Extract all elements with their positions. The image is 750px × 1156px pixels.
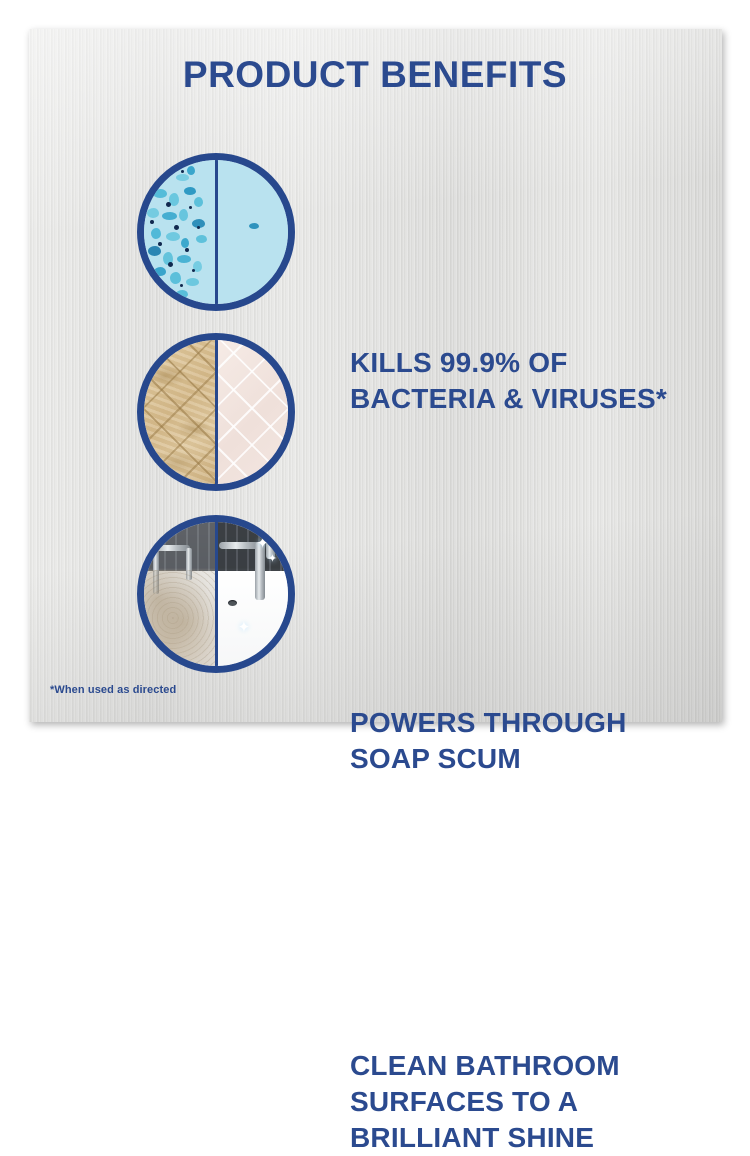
before-after-divider (215, 160, 218, 304)
dull-dirty-sink (144, 522, 216, 666)
clean-tile (216, 340, 288, 484)
benefit-line: POWERS THROUGH (350, 705, 627, 741)
benefit-text-2: POWERS THROUGH SOAP SCUM (350, 705, 627, 777)
benefit-line: SURFACES TO A (350, 1084, 620, 1120)
clean-disinfected-surface (216, 160, 288, 304)
benefit-line: CLEAN BATHROOM (350, 1048, 620, 1084)
benefit-row-3: ✦ ✦ ✦ CLEAN BATHROOM SURFACES TO A BRILL… (0, 515, 750, 675)
tile-soap-scum-before-after-circle (137, 333, 295, 491)
benefit-row-2: POWERS THROUGH SOAP SCUM (0, 333, 750, 493)
before-after-divider (215, 522, 218, 666)
benefit-line: BRILLIANT SHINE (350, 1120, 620, 1156)
footnote-disclaimer: *When used as directed (50, 684, 176, 696)
page-title: PRODUCT BENEFITS (0, 56, 750, 93)
benefit-line: SOAP SCUM (350, 741, 627, 777)
benefit-text-3: CLEAN BATHROOM SURFACES TO A BRILLIANT S… (350, 1048, 620, 1156)
dirty-surface-with-bacteria (144, 160, 216, 304)
germs-before-after-circle (137, 153, 295, 311)
shiny-clean-sink: ✦ ✦ ✦ (216, 522, 288, 666)
benefit-row-1: KILLS 99.9% OF BACTERIA & VIRUSES* (0, 153, 750, 313)
tile-with-soap-scum (144, 340, 216, 484)
product-benefits-infographic: PRODUCT BENEFITS (0, 0, 750, 750)
before-after-divider (215, 340, 218, 484)
bathroom-faucet-before-after-circle: ✦ ✦ ✦ (137, 515, 295, 673)
